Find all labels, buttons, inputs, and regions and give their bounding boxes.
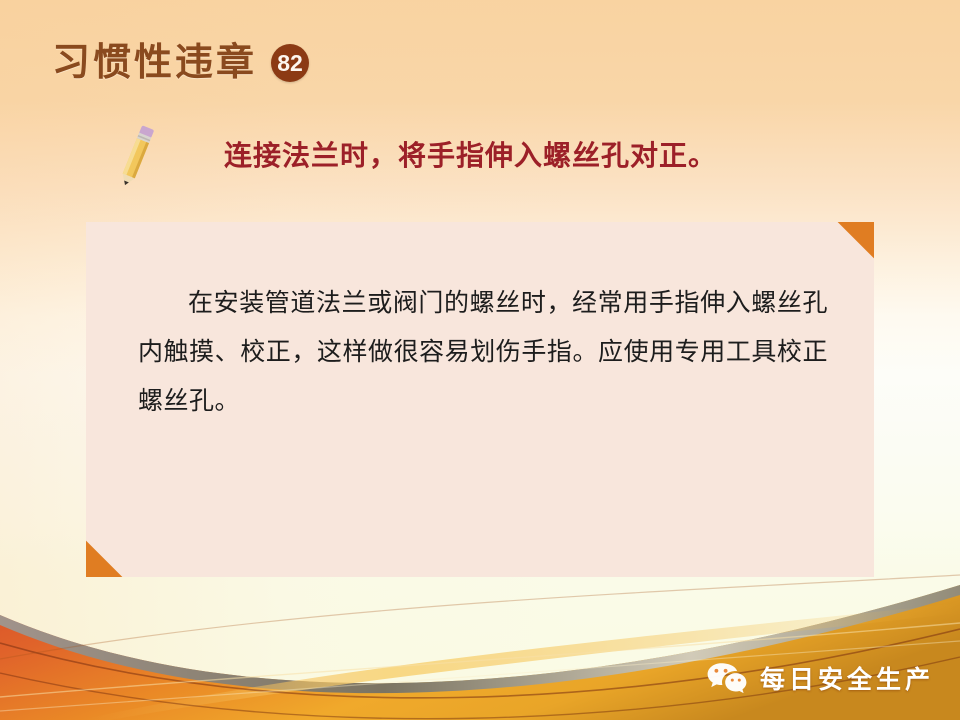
page-title: 习惯性违章 <box>52 44 257 82</box>
slide-header: 习惯性违章 82 <box>52 44 309 82</box>
subtitle-text: 连接法兰时，将手指伸入螺丝孔对正。 <box>224 134 717 174</box>
content-panel: 在安装管道法兰或阀门的螺丝时，经常用手指伸入螺丝孔内触摸、校正，这样做很容易划伤… <box>86 222 874 577</box>
corner-ribbon-top-right <box>822 222 874 370</box>
status-badge: 82 <box>271 44 309 82</box>
slide-root: 习惯性违章 82 连接法兰时，将手指伸入螺丝孔对正。 <box>0 0 960 720</box>
wechat-icon <box>706 661 748 695</box>
brand-name: 每日安全生产 <box>760 660 934 696</box>
pencil-icon <box>108 122 168 192</box>
panel-body-text: 在安装管道法兰或阀门的螺丝时，经常用手指伸入螺丝孔内触摸、校正，这样做很容易划伤… <box>138 280 828 426</box>
footer-brand: 每日安全生产 <box>706 660 934 696</box>
